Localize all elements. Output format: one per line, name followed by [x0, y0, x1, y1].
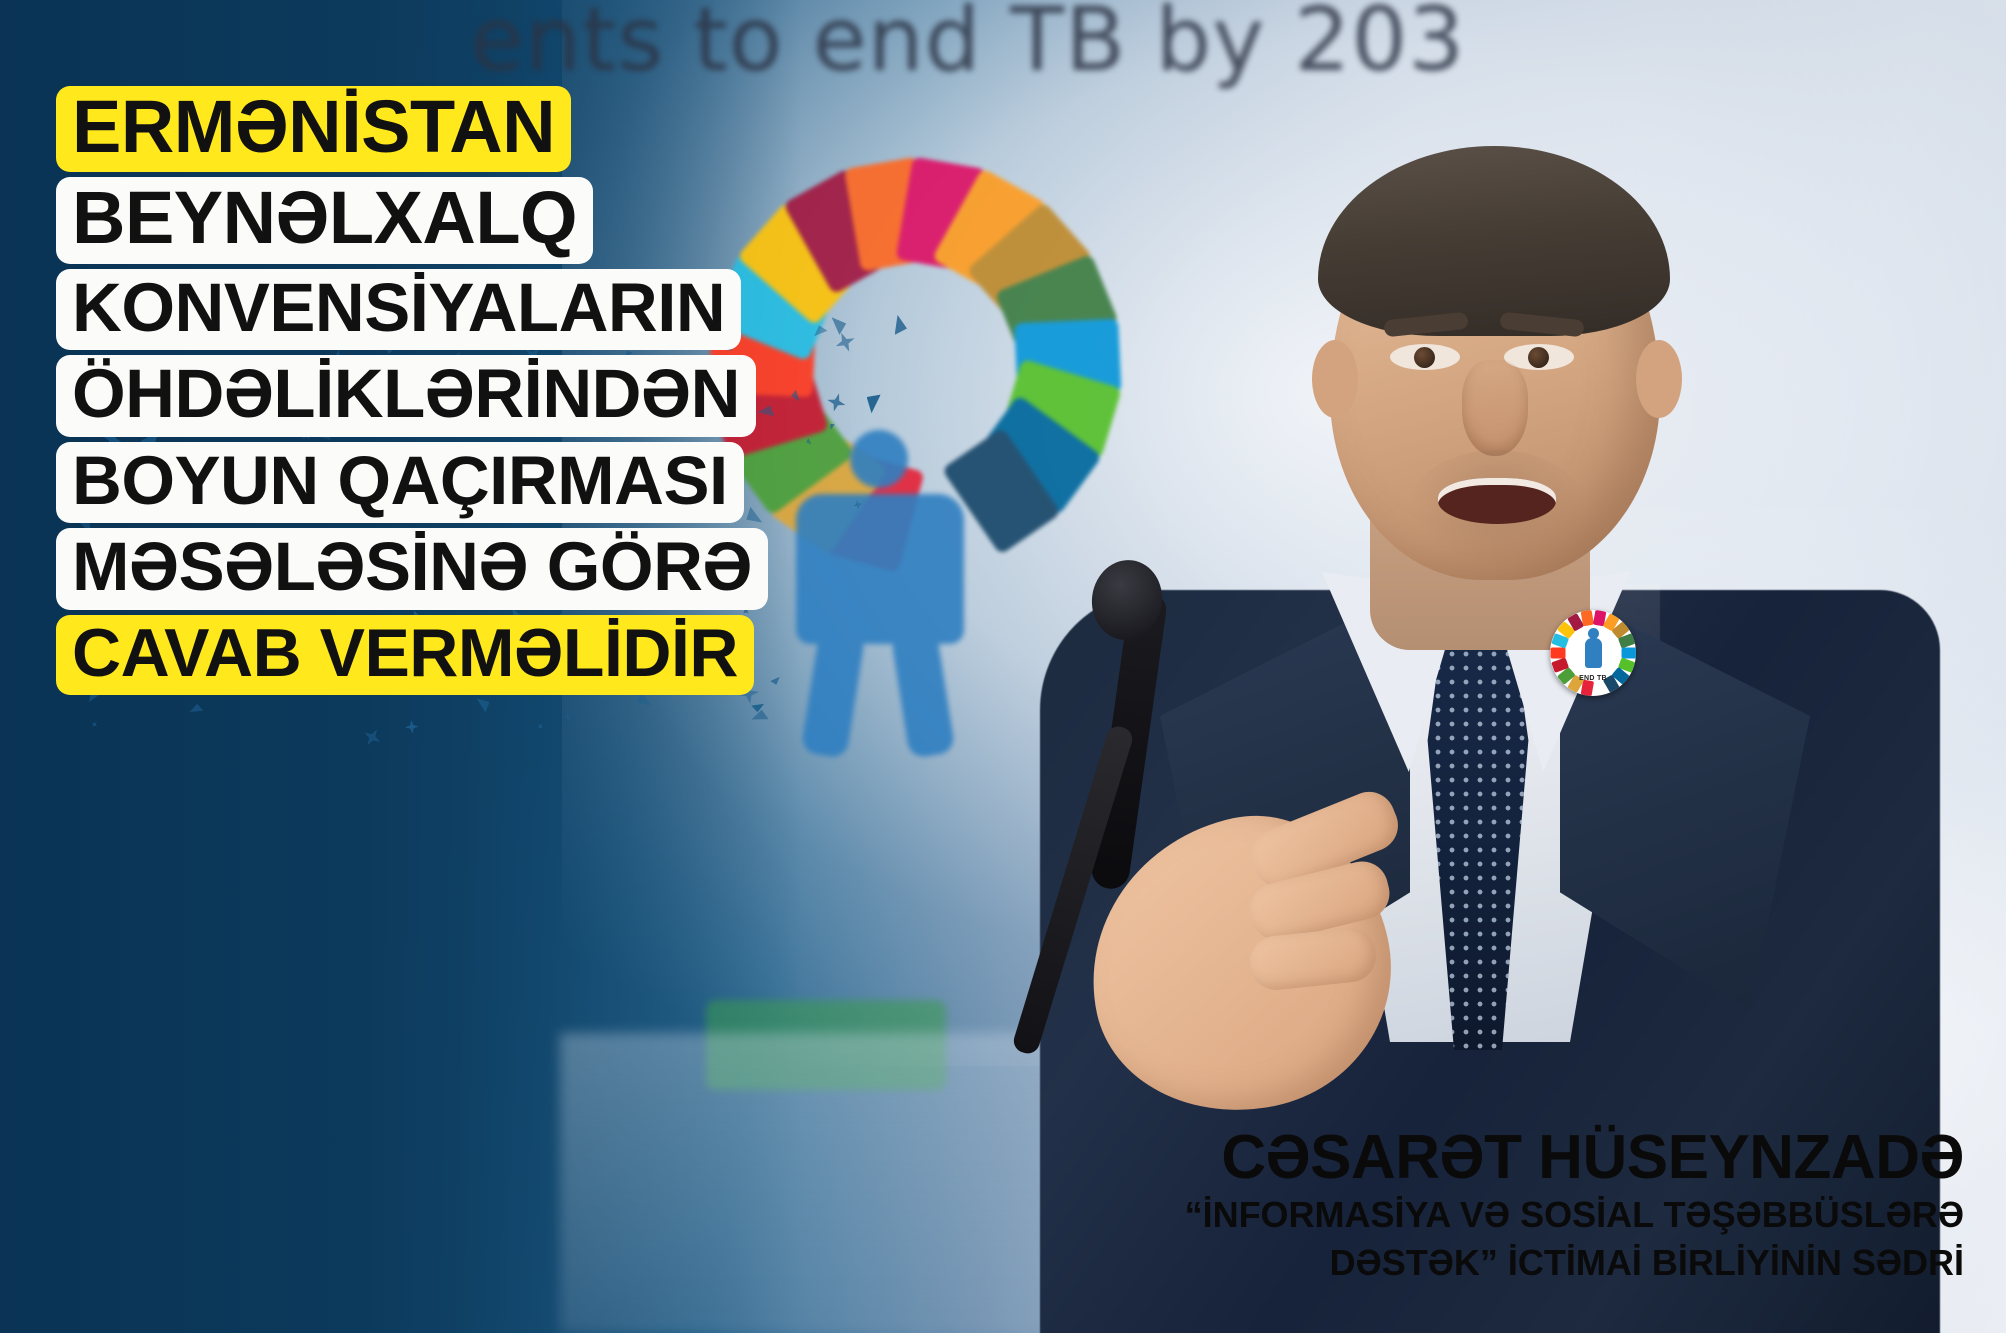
- hair: [1318, 146, 1670, 336]
- pin-person-icon: [1585, 638, 1602, 668]
- ear-right: [1636, 340, 1682, 418]
- pin-inner: [1567, 627, 1619, 679]
- background-banner-text: ents to end TB by 203: [470, 0, 1465, 91]
- poster: ents to end TB by 203: [0, 0, 2006, 1333]
- headline-line-7: CAVAB VERMƏLİDİR: [56, 615, 754, 696]
- pin-ring-segment: [1580, 610, 1593, 626]
- headline-block: ERMƏNİSTANBEYNƏLXALQKONVENSİYALARINÖHDƏL…: [56, 86, 986, 700]
- nose: [1462, 360, 1528, 456]
- headline-line-1: ERMƏNİSTAN: [56, 86, 571, 172]
- mouth: [1438, 478, 1556, 524]
- headline-line-5: BOYUN QAÇIRMASI: [56, 442, 744, 524]
- pin-ring-segment: [1550, 648, 1565, 659]
- pin-label: END TB: [1550, 675, 1636, 682]
- speaker-name: CƏSARƏT HÜSEYNZADƏ: [1185, 1126, 1964, 1189]
- eye-left: [1390, 344, 1460, 370]
- pin-ring-segment: [1621, 648, 1636, 659]
- headline-line-6: MƏSƏLƏSİNƏ GÖRƏ: [56, 528, 768, 610]
- ear-left: [1312, 340, 1358, 418]
- speaker-credit-block: CƏSARƏT HÜSEYNZADƏ “İNFORMASİYA VƏ SOSİA…: [1185, 1126, 1964, 1285]
- headline-line-3: KONVENSİYALARIN: [56, 269, 741, 351]
- speaker-role-line-1: “İNFORMASİYA VƏ SOSİAL TƏŞƏBBÜSLƏRƏ: [1185, 1193, 1964, 1237]
- speaker-role-line-2: DƏSTƏK” İCTİMAİ BİRLİYİNİN SƏDRİ: [1185, 1241, 1964, 1285]
- end-tb-lapel-pin: END TB: [1550, 610, 1636, 696]
- headline-line-4: ÖHDƏLİKLƏRİNDƏN: [56, 355, 756, 437]
- headline-line-2: BEYNƏLXALQ: [56, 177, 593, 263]
